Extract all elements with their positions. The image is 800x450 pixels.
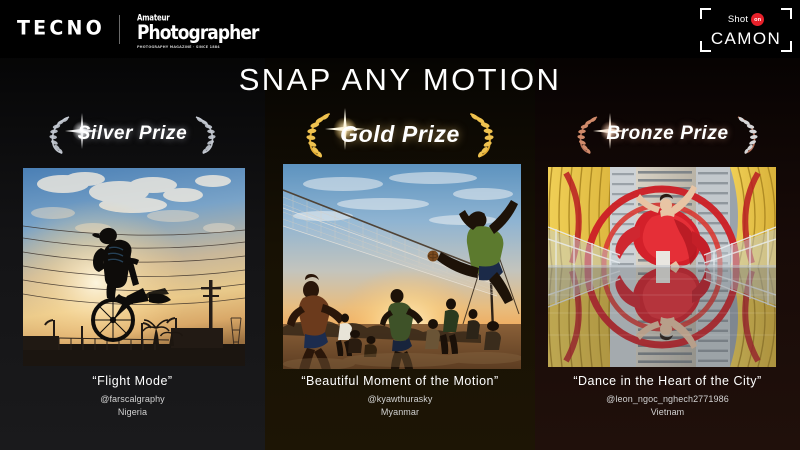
- on-bubble-icon: on: [751, 13, 764, 26]
- laurel-right-silver-icon: [192, 113, 218, 155]
- caption-row: “Flight Mode” @farscalgraphy Nigeria “Be…: [0, 374, 800, 434]
- photo-handle: @leon_ngoc_nghech2771986: [606, 394, 729, 404]
- prize-label-bronze: Bronze Prize: [601, 123, 733, 145]
- photo-flight-mode[interactable]: [23, 168, 245, 366]
- prize-badge-bronze: Bronze Prize: [535, 108, 800, 160]
- laurel-left-silver-icon: [47, 113, 73, 155]
- ap-logo-sub: PHOTOGRAPHY MAGAZINE · SINCE 1884: [137, 46, 258, 49]
- photo-country: Myanmar: [381, 407, 419, 417]
- caption-flight-mode: “Flight Mode” @farscalgraphy Nigeria: [0, 374, 265, 434]
- amateur-photographer-logo: Amateur Photographer PHOTOGRAPHY MAGAZIN…: [137, 14, 258, 49]
- shot-label: Shot: [728, 14, 748, 25]
- photo-title: “Dance in the Heart of the City”: [573, 374, 761, 388]
- photo-handle: @farscalgraphy: [100, 394, 165, 404]
- prize-label-silver: Silver Prize: [73, 123, 193, 145]
- photo-handle: @kyawthurasky: [368, 394, 433, 404]
- prize-badge-gold: Gold Prize: [265, 108, 535, 160]
- ap-logo-main: Photographer: [137, 24, 258, 44]
- photo-country: Vietnam: [651, 407, 685, 417]
- photo-beautiful-moment[interactable]: [283, 164, 521, 369]
- shot-on-camon-badge: Shot on CAMON: [700, 8, 792, 52]
- laurel-right-gold-icon: [465, 109, 497, 159]
- laurel-left-gold-icon: [303, 109, 335, 159]
- photo-country: Nigeria: [118, 407, 147, 417]
- header-bar: TECNO Amateur Photographer PHOTOGRAPHY M…: [0, 0, 800, 58]
- tecno-logo: TECNO: [17, 19, 105, 39]
- prize-badge-silver: Silver Prize: [0, 108, 265, 160]
- page-title: SNAP ANY MOTION: [0, 58, 800, 102]
- photo-title: “Flight Mode”: [92, 374, 172, 388]
- caption-beautiful-moment: “Beautiful Moment of the Motion” @kyawth…: [265, 374, 535, 434]
- caption-dance-heart-city: “Dance in the Heart of the City” @leon_n…: [535, 374, 800, 434]
- laurel-left-bronze-icon: [575, 113, 601, 155]
- logo-divider: [119, 15, 120, 44]
- shot-on-row: Shot on: [700, 13, 792, 26]
- camon-label: CAMON: [700, 30, 792, 47]
- prize-badge-row: Silver Prize: [0, 108, 800, 160]
- prize-label-gold: Gold Prize: [335, 121, 465, 148]
- photo-title: “Beautiful Moment of the Motion”: [301, 374, 498, 388]
- laurel-right-bronze-icon: [734, 113, 760, 155]
- photo-dance-heart-city[interactable]: [548, 167, 776, 367]
- photo-gallery: [0, 164, 800, 372]
